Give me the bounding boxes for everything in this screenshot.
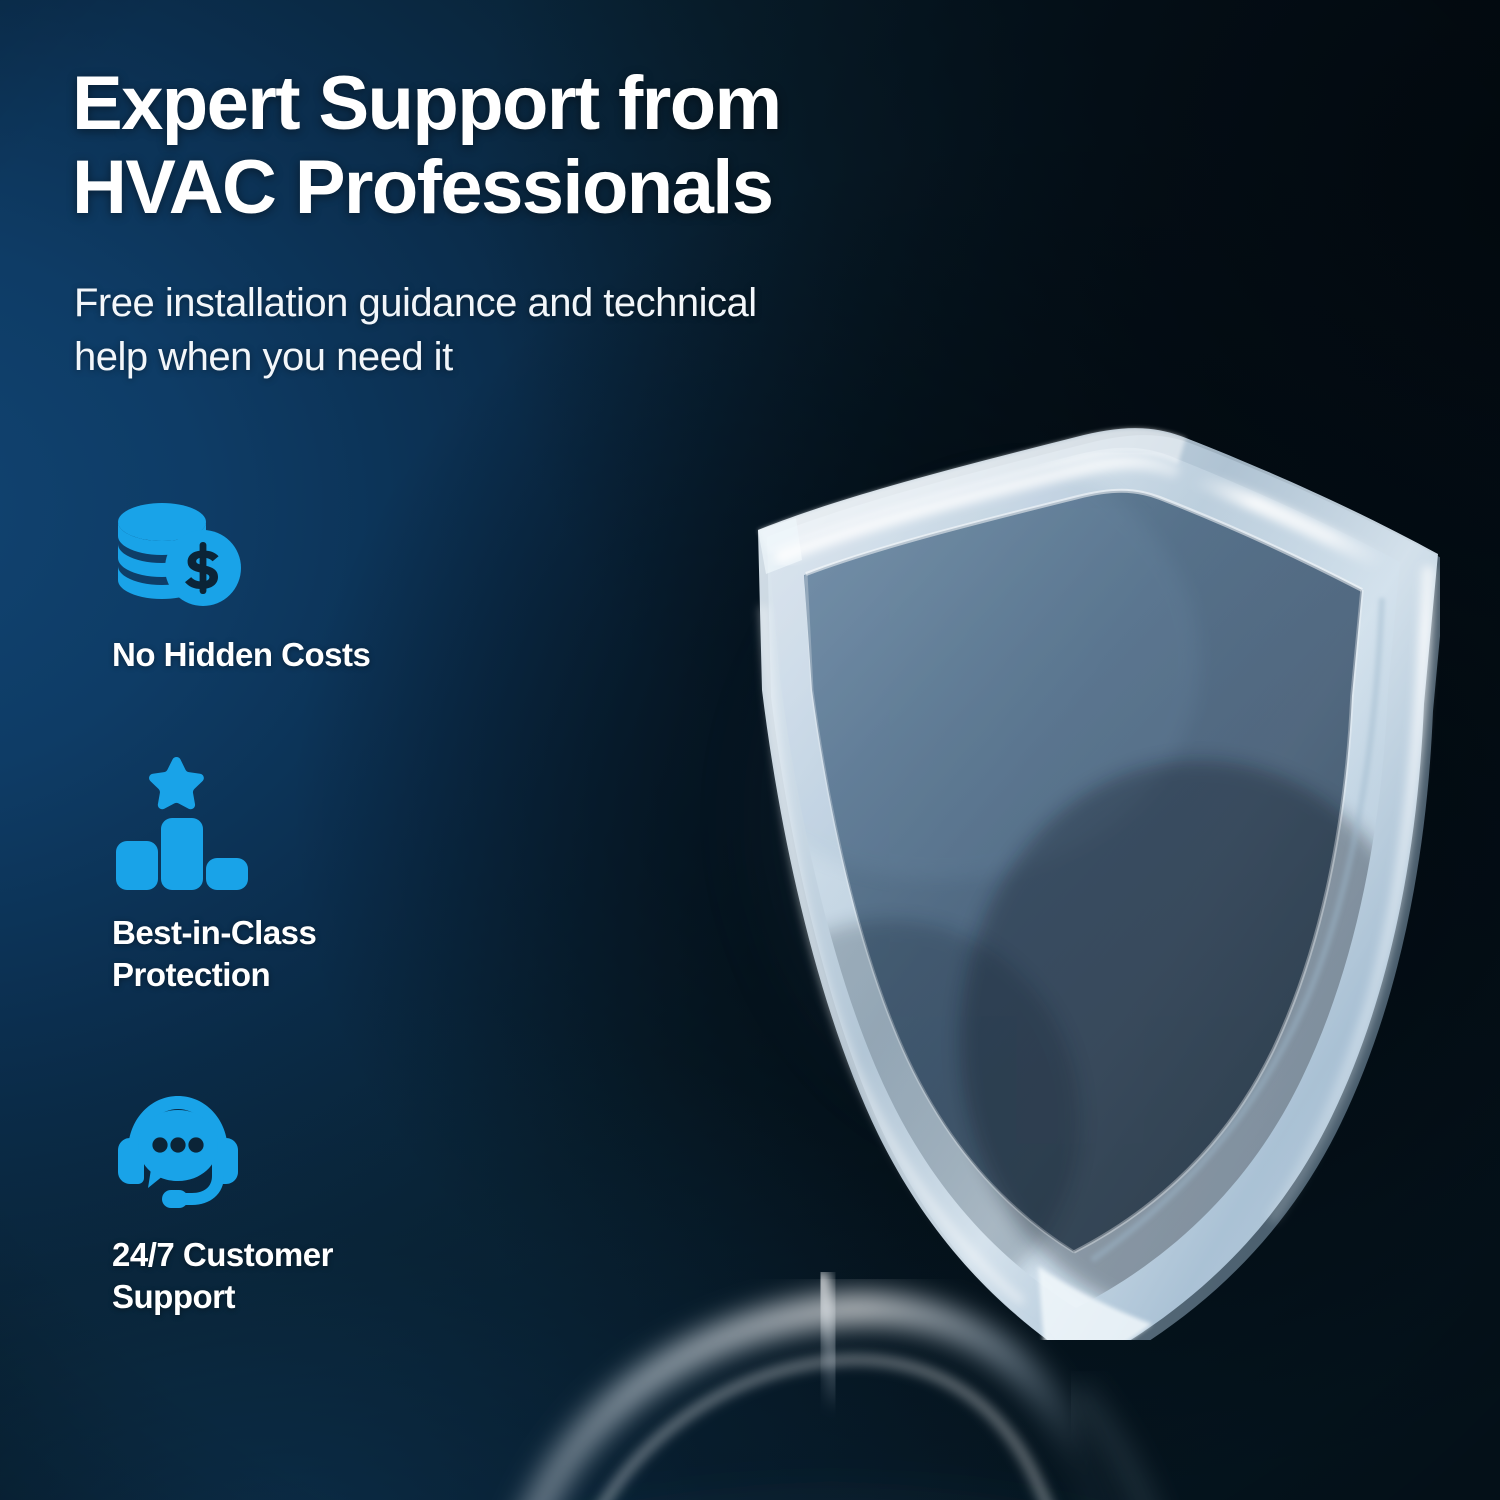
subhead-line-2: help when you need it — [74, 331, 1014, 385]
podium-star-ranking-icon — [112, 755, 252, 890]
feature-item-best-in-class-protection: Best-in-Class Protection — [112, 755, 572, 995]
marketing-banner: Expert Support from HVAC Professionals F… — [0, 0, 1500, 1500]
headset-chat-support-icon — [112, 1092, 244, 1212]
headline-line-1: Expert Support from — [72, 61, 781, 146]
feature-item-no-hidden-costs: No Hidden Costs — [112, 500, 572, 676]
feature-label-line-2: Protection — [112, 954, 572, 996]
caustic-outer-halo — [1080, 1392, 1170, 1500]
page-subtitle: Free installation guidance and technical… — [74, 277, 1014, 384]
page-title: Expert Support from HVAC Professionals — [72, 62, 972, 229]
feature-label-line-1: 24/7 Customer — [112, 1236, 333, 1273]
caustic-inner-arc — [566, 1360, 1072, 1500]
caustic-soft-pool — [470, 1387, 1330, 1500]
feature-label-line-1: No Hidden Costs — [112, 636, 370, 673]
feature-item-24-7-customer-support: 24/7 Customer Support — [112, 1092, 572, 1317]
subhead-line-1: Free installation guidance and technical — [74, 281, 757, 325]
coins-dollar-icon — [112, 500, 242, 612]
feature-label: No Hidden Costs — [112, 634, 572, 676]
glass-shield-graphic — [640, 360, 1440, 1340]
headline-line-2: HVAC Professionals — [72, 146, 972, 230]
feature-label-line-2: Support — [112, 1276, 572, 1318]
feature-label: 24/7 Customer Support — [112, 1234, 572, 1317]
feature-label: Best-in-Class Protection — [112, 912, 572, 995]
feature-label-line-1: Best-in-Class — [112, 914, 316, 951]
